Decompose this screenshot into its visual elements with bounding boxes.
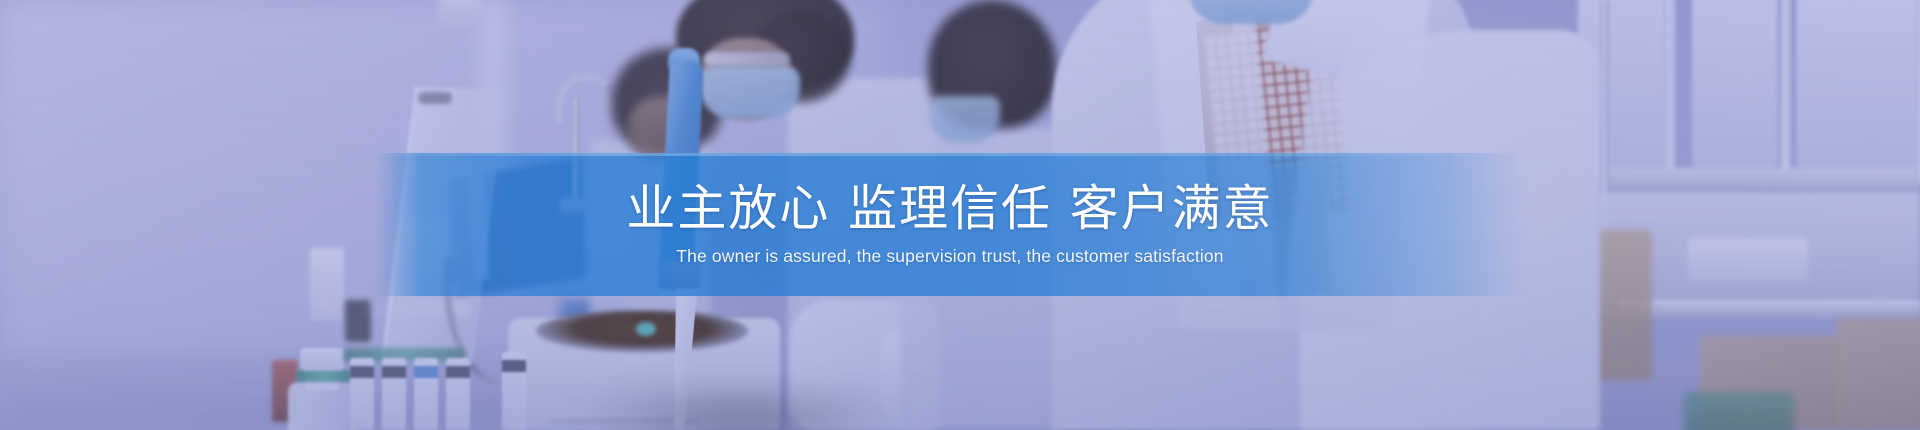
centrifuge-sample [636,322,656,336]
power-outlet [310,248,344,320]
sample-vial [446,358,470,430]
green-box [1684,392,1794,430]
shelf-item [1688,238,1808,282]
water-bottle-cap [300,348,344,370]
window-pane [1692,0,1778,170]
sample-vial [502,352,526,430]
window-mullion [1780,0,1792,184]
face-mask [700,66,800,118]
water-bottle-label [296,370,352,382]
sample-vial [350,358,374,430]
shield-clip [418,92,452,104]
wall-fixture [438,0,482,28]
window-pane [1796,0,1920,170]
sample-vial [414,358,438,430]
banner-text-block: 业主放心 监理信任 客户满意 The owner is assured, the… [375,153,1525,296]
banner-subline: The owner is assured, the supervision tr… [676,248,1223,266]
lab-faucet [556,74,618,123]
foreground-shadow [560,392,920,430]
safety-glasses [704,52,790,66]
window-mullion [1664,0,1676,184]
cardboard-box [1836,318,1920,430]
lab-hero-banner: 业主放心 监理信任 客户满意 The owner is assured, the… [0,0,1920,430]
face-mask [930,96,1000,142]
sample-vial [382,358,406,430]
window-sill [1560,168,1920,190]
banner-headline: 业主放心 监理信任 客户满意 [626,184,1273,233]
window-mullion [1916,0,1920,184]
shelf-edge [1618,300,1920,314]
